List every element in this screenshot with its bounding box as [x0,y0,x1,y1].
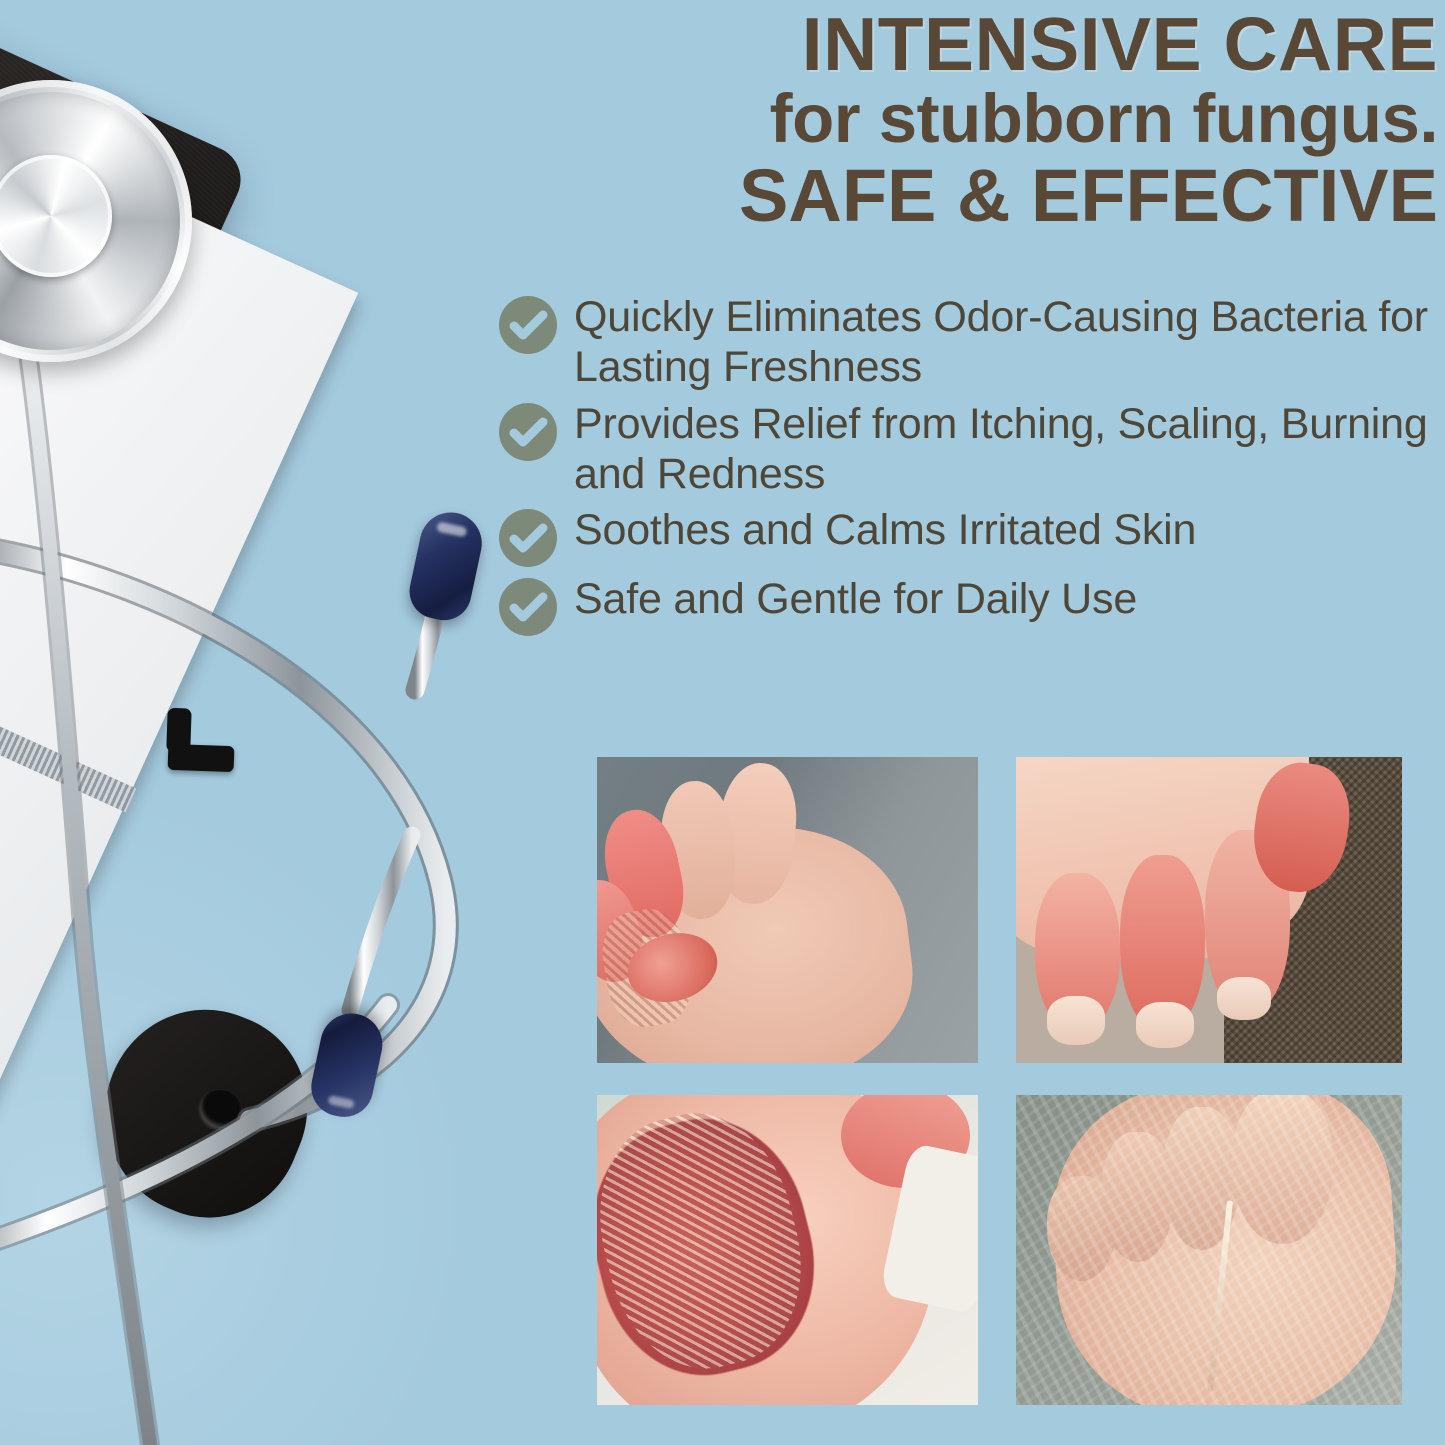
headline-block: INTENSIVE CARE for stubborn fungus. SAFE… [486,8,1438,231]
benefit-label: Quickly Eliminates Odor-Causing Bacteria… [574,292,1438,393]
condition-photo-3 [597,1095,978,1405]
benefit-item: Safe and Gentle for Daily Use [498,574,1438,637]
benefit-item: Soothes and Calms Irritated Skin [498,505,1438,568]
condition-photo-grid [597,757,1402,1405]
benefits-list: Quickly Eliminates Odor-Causing Bacteria… [498,292,1438,643]
condition-photo-4 [1016,1095,1402,1405]
condition-photo-1 [597,757,978,1063]
check-circle-icon [498,508,558,568]
toenail-shape [1217,977,1271,1020]
toenail-shape [1047,996,1105,1045]
stethoscope-black-connector [168,744,235,772]
benefit-label: Safe and Gentle for Daily Use [574,574,1137,624]
benefit-item: Provides Relief from Itching, Scaling, B… [498,399,1438,500]
product-infographic: INTENSIVE CARE for stubborn fungus. SAFE… [0,0,1445,1445]
benefit-label: Soothes and Calms Irritated Skin [574,505,1196,555]
headline-line-2: for stubborn fungus. [486,86,1438,152]
check-circle-icon [498,295,558,355]
stethoscope-clipboard-photo [0,0,500,1445]
condition-photo-2 [1016,757,1402,1063]
headline-line-1: INTENSIVE CARE [486,8,1438,80]
benefit-label: Provides Relief from Itching, Scaling, B… [574,399,1438,500]
check-circle-icon [498,577,558,637]
benefit-item: Quickly Eliminates Odor-Causing Bacteria… [498,292,1438,393]
toenail-shape [1136,1002,1194,1048]
flaking-skin-texture [1016,1095,1402,1405]
headline-line-3: SAFE & EFFECTIVE [486,160,1438,231]
check-circle-icon [498,402,558,462]
